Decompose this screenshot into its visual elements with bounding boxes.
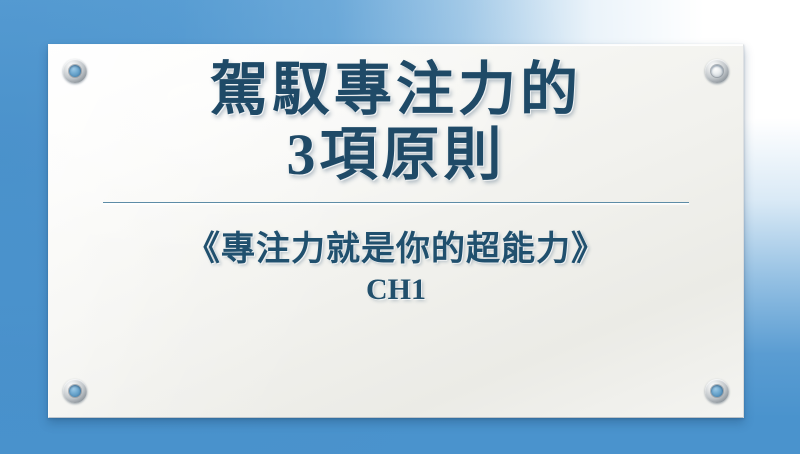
title-line-2: 3項原則 [49,124,743,187]
subtitle-book-title: 《專注力就是你的超能力》 [186,230,606,270]
page-title: 駕馭專注力的 3項原則 [49,59,743,186]
sign-panel: 駕馭專注力的 3項原則 《專注力就是你的超能力》 CH1 [48,44,744,418]
subtitle: 《專注力就是你的超能力》 CH1 [186,230,606,308]
subtitle-chapter-label: CH1 [186,272,606,308]
title-divider [103,202,689,204]
slide-canvas: 駕馭專注力的 3項原則 《專注力就是你的超能力》 CH1 [0,0,800,454]
title-line-1: 駕馭專注力的 [49,59,743,122]
slide-content: 駕馭專注力的 3項原則 《專注力就是你的超能力》 CH1 [49,45,743,417]
